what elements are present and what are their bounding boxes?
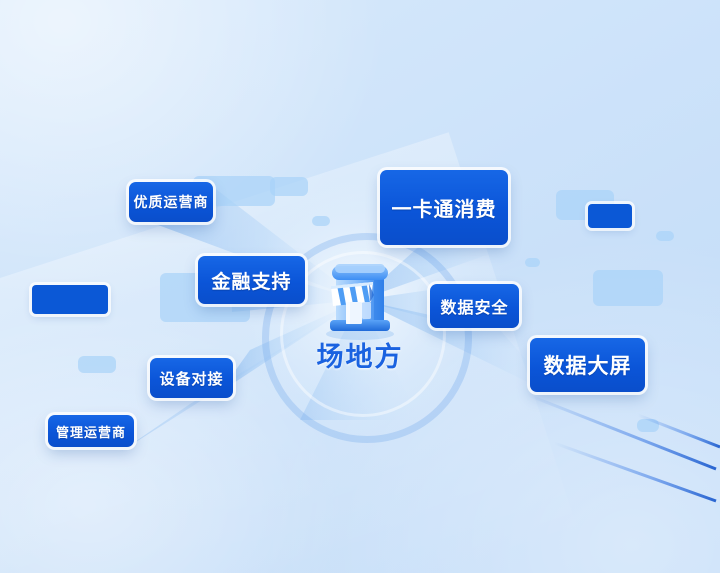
storefront-icon [311,244,409,342]
node-device-docking[interactable]: 设备对接 [150,358,233,398]
node-data-dashboard[interactable]: 数据大屏 [530,338,645,392]
decor-rect-r9 [656,231,674,241]
node-label: 数据安全 [440,294,508,318]
decor-rect-r11 [593,270,663,306]
node-quality-operator[interactable]: 优质运营商 [129,182,213,222]
decor-rect-r3 [32,285,108,314]
node-label: 数据大屏 [544,350,632,380]
node-financial-support[interactable]: 金融支持 [198,256,305,304]
decor-rect-r4 [78,356,116,373]
speed-lines [520,373,720,513]
hub-label: 场地方 [281,335,439,374]
decor-rect-r5 [270,177,308,196]
node-label: 优质运营商 [134,192,209,212]
node-management-operator[interactable]: 管理运营商 [48,415,134,447]
node-all-in-one-card[interactable]: 一卡通消费 [380,170,508,245]
node-label: 一卡通消费 [392,193,497,222]
diagram-canvas: 场地方 优质运营商金融支持一卡通消费数据安全数据大屏设备对接管理运营商 [0,0,720,573]
decor-rect-r6 [312,216,330,226]
decor-rect-r7 [556,190,614,220]
node-label: 管理运营商 [56,422,126,441]
node-label: 金融支持 [211,267,291,294]
node-data-security[interactable]: 数据安全 [430,284,519,328]
node-label: 设备对接 [159,368,223,389]
decor-rect-r10 [525,258,540,267]
decor-rect-r8 [588,204,632,228]
decor-rect-r12 [637,419,659,432]
